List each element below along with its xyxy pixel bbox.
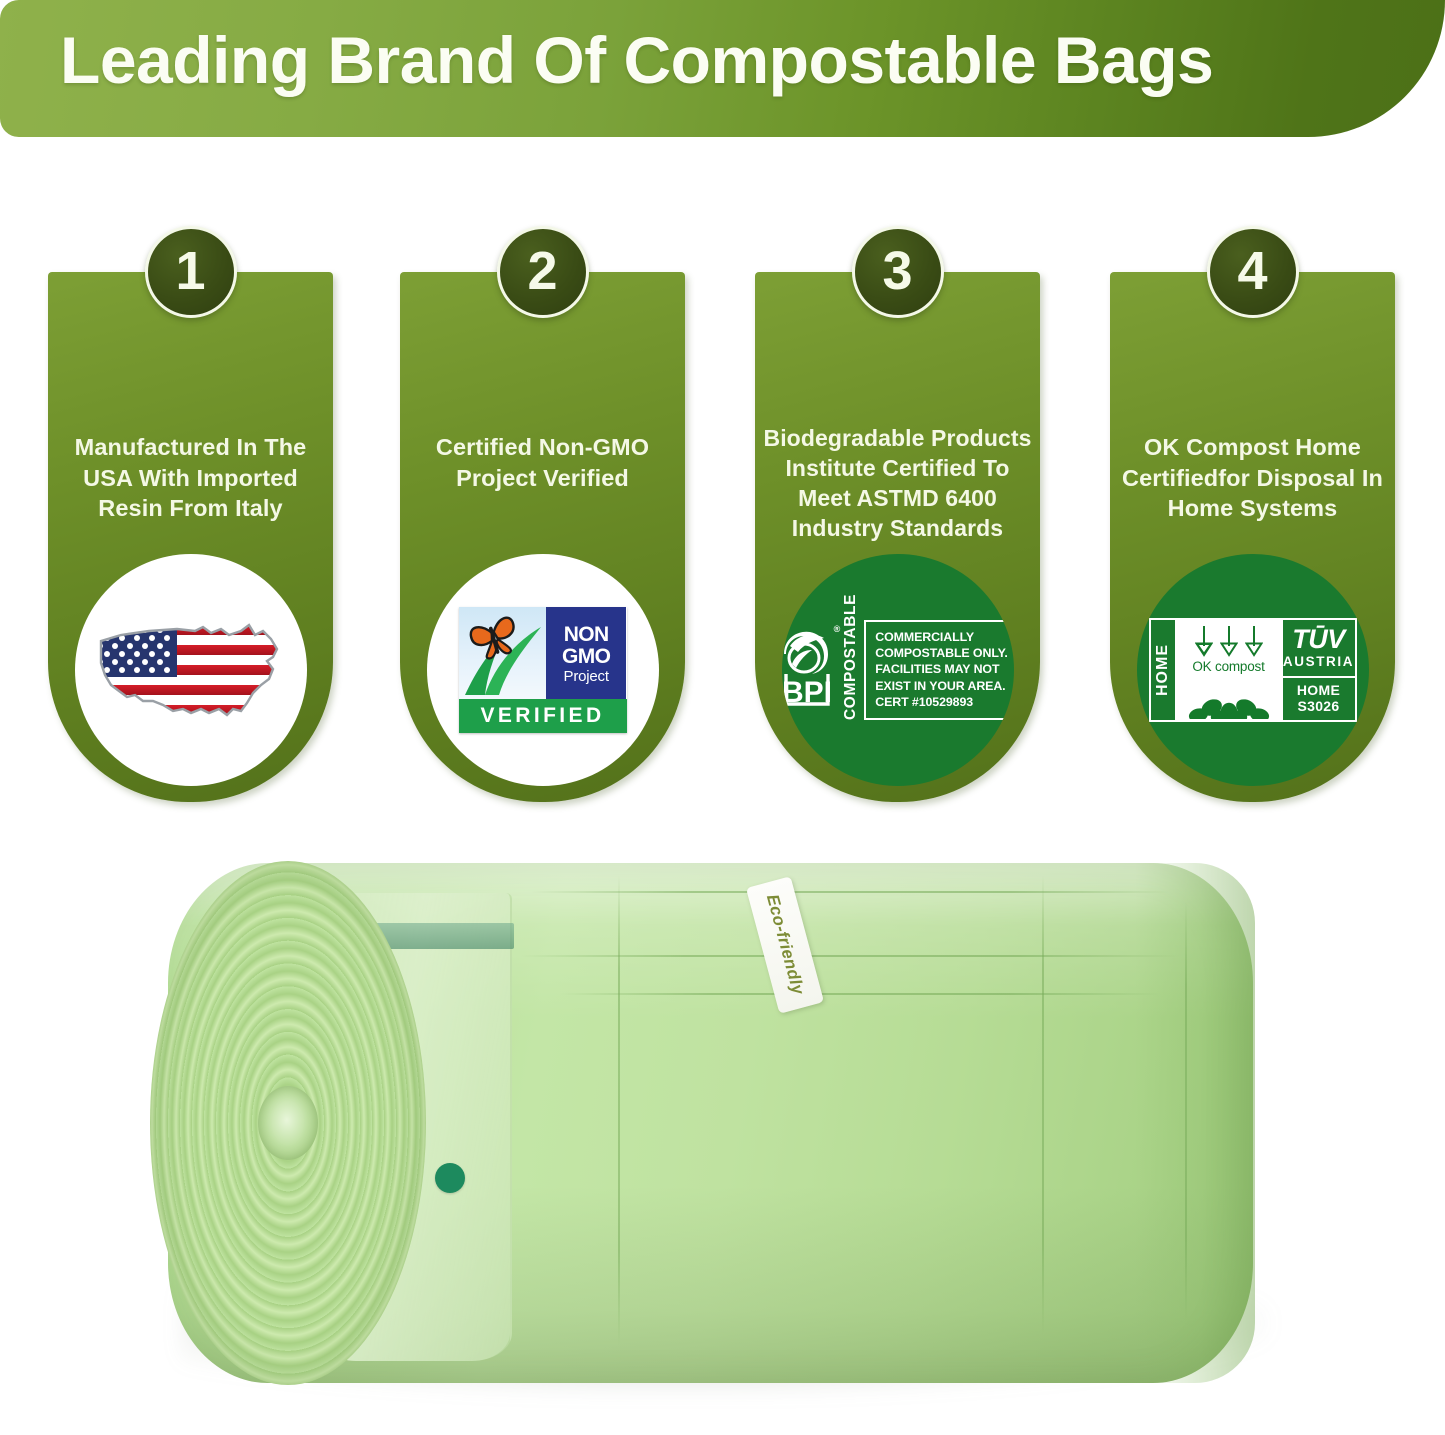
tuv-home-vertical-text: HOME — [1154, 644, 1172, 696]
feature-card-2: 2 Certified Non-GMO Project Verified — [400, 272, 685, 802]
page-title: Leading Brand Of Compostable Bags — [60, 24, 1420, 98]
card-number-badge-4: 4 — [1207, 226, 1299, 318]
roll-right-cap — [1135, 863, 1255, 1383]
card-number-3: 3 — [882, 244, 912, 298]
header-banner: Leading Brand Of Compostable Bags — [0, 0, 1445, 137]
card-text-3: Biodegradable Products Institute Certifi… — [759, 424, 1036, 544]
card-number-2: 2 — [527, 244, 557, 298]
non-gmo-line1: NON — [564, 624, 609, 645]
down-arrow-icon — [1195, 624, 1213, 658]
certification-badge-usa-flag-map — [75, 554, 307, 786]
card-number-4: 4 — [1237, 244, 1267, 298]
bpi-compostable-vertical-label: COMPOSTABLE — [842, 620, 860, 720]
certification-badge-bpi: ® BPI COMPOSTABLE COMMERCIALLY — [782, 554, 1014, 786]
tuv-right-panel: TŪV AUSTRIA HOME S3026 — [1283, 620, 1355, 720]
bpi-statement-line-1: COMMERCIALLY — [875, 629, 1008, 645]
bpi-statement-line-2: COMPOSTABLE ONLY. — [875, 645, 1008, 661]
down-arrow-icon — [1220, 624, 1238, 658]
certification-badge-non-gmo: NON GMO Project VERIFIED — [427, 554, 659, 786]
tuv-cert-block: HOME S3026 — [1283, 678, 1355, 720]
feature-card-3: 3 Biodegradable Products Institute Certi… — [755, 272, 1040, 802]
bpi-statement-box: COMMERCIALLY COMPOSTABLE ONLY. FACILITIE… — [864, 620, 1013, 720]
card-number-badge-1: 1 — [145, 226, 237, 318]
roll-coil-end — [150, 861, 426, 1385]
feature-card-1: 1 Manufactured In The USA With Imported … — [48, 272, 333, 802]
card-number-1: 1 — [175, 244, 205, 298]
feature-card-4: 4 OK Compost Home Certifiedfor Disposal … — [1110, 272, 1395, 802]
bpi-statement-line-3: FACILITIES MAY NOT — [875, 661, 1008, 677]
down-arrow-icon — [1245, 624, 1263, 658]
non-gmo-upper: NON GMO Project — [459, 607, 627, 699]
registered-trademark-icon: ® — [834, 624, 841, 634]
tuv-cert-line-1: HOME — [1297, 683, 1340, 699]
roll-vertical-seam — [1042, 875, 1044, 1335]
butterfly-grass-icon — [459, 607, 546, 699]
ok-compost-panel: OK compost — [1175, 620, 1283, 720]
bpi-compostable-icon: ® BPI COMPOSTABLE COMMERCIALLY — [792, 620, 1004, 720]
card-text-1: Manufactured In The USA With Imported Re… — [58, 432, 323, 524]
feature-cards-row: 1 Manufactured In The USA With Imported … — [0, 228, 1445, 818]
non-gmo-text-panel: NON GMO Project — [546, 607, 627, 699]
ok-compost-label: OK compost — [1192, 659, 1264, 674]
tuv-cert-line-2: S3026 — [1298, 699, 1340, 715]
infographic-root: Leading Brand Of Compostable Bags 1 Manu… — [0, 0, 1445, 1435]
roll-seam — [530, 891, 1170, 893]
card-text-4: OK Compost Home Certifiedfor Disposal In… — [1120, 432, 1385, 524]
roll-green-dot — [435, 1163, 465, 1193]
roll-vertical-seam — [1185, 901, 1187, 1321]
tuv-logo-block: TŪV AUSTRIA — [1283, 620, 1355, 678]
compost-plant-icon — [1177, 675, 1281, 719]
svg-text:BPI: BPI — [782, 676, 832, 709]
card-number-badge-3: 3 — [852, 226, 944, 318]
tuv-home-vertical-label: HOME — [1151, 620, 1175, 720]
usa-flag-map-icon — [91, 595, 291, 745]
tuv-austria-ok-compost-home-icon: HOME — [1149, 618, 1357, 722]
roll-seam — [560, 993, 1160, 995]
non-gmo-project-verified-icon: NON GMO Project VERIFIED — [459, 607, 627, 733]
non-gmo-line3: Project — [564, 669, 609, 684]
card-number-badge-2: 2 — [497, 226, 589, 318]
tuv-austria-label: AUSTRIA — [1283, 654, 1354, 669]
roll-coil-core — [258, 1086, 318, 1160]
bpi-logo-mark: ® BPI — [782, 624, 839, 716]
non-gmo-line2: GMO — [562, 646, 610, 667]
bpi-cert-number: CERT #10529893 — [875, 694, 1008, 710]
card-text-2: Certified Non-GMO Project Verified — [410, 432, 675, 493]
roll-vertical-seam — [618, 875, 620, 1345]
product-photo — [0, 805, 1445, 1435]
bpi-statement-line-4: EXIST IN YOUR AREA. — [875, 678, 1008, 694]
non-gmo-verified-banner: VERIFIED — [459, 699, 627, 733]
down-arrows-group — [1195, 624, 1263, 658]
tuv-logo-text: TŪV — [1292, 627, 1345, 653]
certification-badge-tuv-ok-compost-home: HOME — [1137, 554, 1369, 786]
